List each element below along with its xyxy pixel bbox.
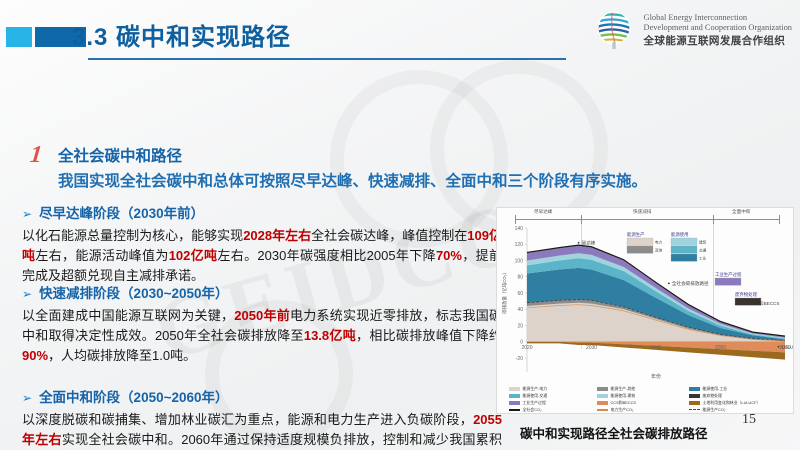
logo-chinese: 全球能源互联网发展合作组织 — [644, 35, 792, 47]
section-full-neutrality: ➢ 全面中和阶段（2050~2060年） 以深度脱碳和碳捕集、增加林业碳汇为重点… — [22, 386, 502, 450]
body-text: 实现全社会碳中和。2060年通过保持适度规模负排放，控制和减少我国累积碳排放量。 — [22, 432, 502, 450]
svg-text:2030: 2030 — [586, 345, 597, 351]
arrow-icon: ➢ — [22, 207, 32, 221]
logo-english-line2: Development and Cooperation Organization — [644, 23, 792, 33]
chart-annotation: 全社会碳排放路径 — [672, 280, 709, 287]
section-peak: ➢ 尽早达峰阶段（2030年前） 以化石能源总量控制为核心，能够实现2028年左… — [22, 202, 502, 286]
legend-label: 电力生产CO₂ — [611, 407, 634, 413]
swatch-group-label: 能源使用 — [671, 231, 689, 238]
legend-swatch — [509, 394, 520, 397]
section-rapid-reduction: ➢ 快速减排阶段（2030~2050年） 以全面建成中国能源互联网为关键，205… — [22, 282, 502, 366]
legend-label: 能源使用-工业 — [703, 386, 728, 392]
legend-item: 能源生产CO₂ — [689, 407, 787, 413]
highlight-text: 90% — [22, 348, 48, 363]
svg-text:交通: 交通 — [699, 248, 707, 253]
section-paragraph: 以化石能源总量控制为核心，能够实现2028年左右全社会碳达峰，峰值控制在109亿… — [22, 226, 502, 286]
globe-icon — [593, 8, 637, 52]
legend-item: 电力生产CO₂ — [597, 407, 689, 413]
swatch-group-label: 废弃物处理 — [735, 291, 758, 298]
svg-text:40: 40 — [517, 307, 523, 313]
slide-body: 1 全社会碳中和路径 我国实现全社会碳中和总体可按照尽早达峰、快速减排、全面中和… — [0, 64, 800, 450]
organization-logo: Global Energy Interconnection Developmen… — [593, 6, 792, 54]
slide-header: 3.3 碳中和实现路径 — [0, 0, 800, 64]
page-number: 15 — [742, 412, 756, 428]
arrow-icon: ➢ — [22, 391, 32, 405]
legend-swatch — [597, 409, 608, 411]
svg-text:电力: 电力 — [655, 240, 663, 245]
legend-label: 土地利用变化和林业（LULUCF） — [703, 400, 761, 406]
svg-text:-20: -20 — [516, 356, 523, 362]
highlight-text: 102亿吨 — [169, 248, 218, 263]
svg-text:建筑: 建筑 — [699, 240, 707, 245]
legend-label: CCS和BECCS — [611, 400, 637, 406]
svg-text:其他: 其他 — [655, 248, 663, 253]
swatch-group-label: 能源生产 — [627, 231, 645, 238]
svg-text:碳排放量（亿吨CO₂）: 碳排放量（亿吨CO₂） — [501, 270, 508, 313]
chart-caption: 碳中和实现路径全社会碳排放路径 — [520, 423, 708, 442]
svg-text:140: 140 — [515, 226, 524, 232]
section-heading: ➢ 快速减排阶段（2030~2050年） — [22, 282, 502, 302]
arrow-icon: ➢ — [22, 287, 32, 301]
svg-text:60: 60 — [517, 291, 523, 297]
legend-swatch — [509, 387, 520, 390]
logo-english-line1: Global Energy Interconnection — [644, 13, 792, 23]
legend-swatch — [689, 387, 700, 390]
phase-label-1: 快速减排 — [633, 209, 651, 215]
svg-text:20: 20 — [517, 323, 523, 329]
phase-label-2: 全面中和 — [732, 209, 750, 215]
legend-item: 能源使用-交通 — [509, 393, 597, 399]
chart-phase-bar: 尽早达峰快速减排全面中和 — [497, 208, 793, 223]
svg-text:2050: 2050 — [715, 345, 726, 351]
highlight-text: 70% — [436, 248, 462, 263]
highlight-text: 2028年左右 — [243, 228, 311, 243]
svg-text:120: 120 — [515, 242, 524, 248]
section-heading: ➢ 尽早达峰阶段（2030年前） — [22, 202, 502, 222]
body-text: 以深度脱碳和碳捕集、增加林业碳汇为重点，能源和电力生产进入负碳阶段， — [22, 412, 473, 427]
section-title: 尽早达峰阶段（2030年前） — [39, 202, 204, 222]
title-underline — [88, 58, 566, 60]
slide: GEIDCO 3.3 碳中和实现路径 — [0, 0, 800, 450]
legend-label: 能源生产-电力 — [523, 386, 548, 392]
body-text: 以化石能源总量控制为核心，能够实现 — [22, 228, 243, 243]
svg-text:年份: 年份 — [651, 373, 661, 380]
chart-annotation: 碳达峰 — [582, 239, 596, 246]
phase-label-0: 尽早达峰 — [534, 209, 552, 215]
legend-label: 全社会CO₂ — [523, 407, 542, 413]
highlight-text: 2050年前 — [234, 308, 290, 323]
section-title: 全面中和阶段（2050~2060年） — [39, 386, 228, 406]
emissions-pathway-chart: 尽早达峰快速减排全面中和 -20020406080100120140202020… — [496, 207, 794, 414]
body-text: 左右，能源活动峰值为 — [35, 248, 168, 263]
legend-label: 工业生产过程 — [523, 400, 546, 406]
legend-swatch — [509, 409, 520, 411]
chart-annotation: LULUCF — [782, 344, 793, 349]
legend-swatch — [509, 401, 520, 404]
legend-swatch — [689, 394, 700, 397]
legend-item: 能源生产-电力 — [509, 386, 597, 392]
body-text: ，相比碳排放峰值下降约 — [356, 328, 502, 343]
body-text: ，人均碳排放降至1.0吨。 — [48, 348, 196, 363]
section-paragraph: 以深度脱碳和碳捕集、增加林业碳汇为重点，能源和电力生产进入负碳阶段，2055年左… — [22, 410, 502, 450]
legend-label: 能源使用-建筑 — [611, 393, 636, 399]
legend-swatch — [689, 401, 700, 404]
legend-label: 能源生产CO₂ — [703, 407, 726, 413]
section-title: 快速减排阶段（2030~2050年） — [39, 282, 228, 302]
legend-item: 土地利用变化和林业（LULUCF） — [689, 400, 787, 406]
legend-item: 工业生产过程 — [509, 400, 597, 406]
svg-text:工业: 工业 — [699, 256, 707, 261]
legend-item: 全社会CO₂ — [509, 407, 597, 413]
body-text: 左右。2030年碳强度相比2005年下降 — [217, 248, 436, 263]
section-paragraph: 以全面建成中国能源互联网为关键，2050年前电力系统实现近零排放，标志我国碳中和… — [22, 306, 502, 366]
legend-swatch — [597, 394, 608, 397]
legend-swatch — [597, 401, 608, 404]
legend-label: 废弃物处理 — [703, 393, 722, 399]
chart-svg: -200204060801001201402020203020402050206… — [497, 222, 793, 382]
svg-text:80: 80 — [517, 275, 523, 281]
svg-text:100: 100 — [515, 258, 524, 264]
header-chip-cyan — [6, 27, 32, 47]
legend-swatch — [597, 387, 608, 390]
chart-legend: 能源生产-电力能源生产-其他能源使用-工业能源使用-交通能源使用-建筑废弃物处理… — [509, 386, 787, 413]
page-title: 3.3 碳中和实现路径 — [72, 17, 291, 52]
body-heading: 全社会碳中和路径 — [58, 144, 182, 166]
section-number-marker: 1 — [29, 142, 44, 169]
section-heading: ➢ 全面中和阶段（2050~2060年） — [22, 386, 502, 406]
body-text: 以全面建成中国能源互联网为关键， — [22, 308, 234, 323]
body-text: 全社会碳达峰，峰值控制在 — [311, 228, 467, 243]
legend-swatch — [689, 409, 700, 412]
chart-plot-area: -200204060801001201402020203020402050206… — [497, 222, 793, 382]
phase-axis-line — [515, 219, 779, 220]
legend-item: 废弃物处理 — [689, 393, 787, 399]
legend-label: 能源生产-其他 — [611, 386, 636, 392]
legend-item: 能源生产-其他 — [597, 386, 689, 392]
legend-item: 能源使用-建筑 — [597, 393, 689, 399]
svg-text:2020: 2020 — [521, 345, 532, 351]
legend-label: 能源使用-交通 — [523, 393, 548, 399]
svg-text:2040: 2040 — [650, 345, 661, 351]
body-subheading: 我国实现全社会碳中和总体可按照尽早达峰、快速减排、全面中和三个阶段有序实施。 — [58, 169, 800, 191]
legend-item: CCS和BECCS — [597, 400, 689, 406]
swatch-group-label: 工业生产过程 — [715, 271, 742, 278]
highlight-text: 13.8亿吨 — [304, 328, 356, 343]
legend-item: 能源使用-工业 — [689, 386, 787, 392]
